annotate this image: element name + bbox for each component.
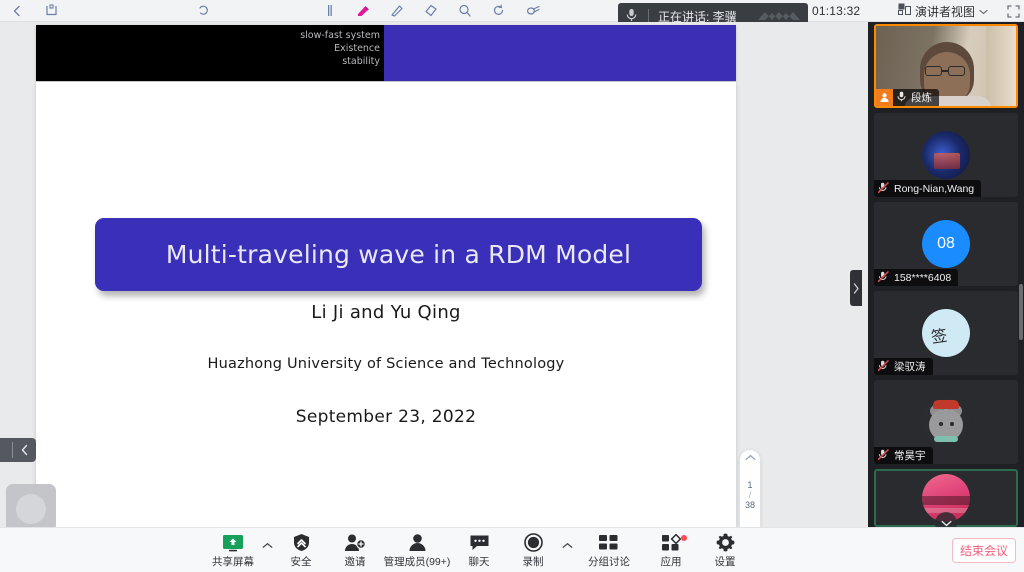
slide-affiliation: Huazhong University of Science and Techn… (36, 356, 736, 372)
participant-name: 常昊宇 (894, 448, 926, 463)
microphone-muted-icon (878, 180, 889, 198)
strip-scroll-down-button[interactable] (935, 512, 957, 527)
record-icon (524, 533, 543, 553)
participant-tile[interactable]: 常昊宇 (874, 380, 1018, 464)
outline-line-2: Existence (300, 42, 380, 55)
eraser-tool-icon[interactable] (414, 0, 448, 22)
record-options-caret[interactable] (560, 528, 574, 572)
participant-strip[interactable]: 段炼 Rong-Nian,Wang 08 158****6408 签 (868, 22, 1024, 527)
previous-slide-strip: slow-fast system Existence stability (36, 25, 736, 81)
annotation-toolbar (0, 0, 1024, 22)
strip-collapse-handle[interactable] (850, 270, 862, 306)
view-mode-label: 演讲者视图 (915, 3, 975, 20)
share-screen-label: 共享屏幕 (212, 554, 254, 569)
current-slide: Multi-traveling wave in a RDM Model Li J… (36, 82, 736, 527)
cat-eye-left (939, 422, 943, 426)
participant-name-bar: 段炼 (893, 89, 939, 106)
avatar (16, 494, 46, 524)
cat-hat (933, 400, 959, 409)
invite-button[interactable]: 邀请 (328, 528, 382, 572)
participant-name: 梁驭涛 (894, 359, 926, 374)
apps-icon (661, 533, 682, 553)
slide-viewport: slow-fast system Existence stability Mul… (14, 22, 868, 527)
end-meeting-label: 结束会议 (960, 542, 1008, 559)
participant-name: 段炼 (911, 90, 932, 105)
glasses-right (948, 66, 965, 76)
participant-name-bar: 常昊宇 (874, 447, 933, 464)
slide-title-box: Multi-traveling wave in a RDM Model (95, 218, 702, 291)
meeting-timer: 01:13:32 (812, 0, 860, 22)
slide-authors: Li Ji and Yu Qing (36, 302, 736, 323)
avatar (922, 131, 970, 179)
participant-tile[interactable]: 签 梁驭涛 (874, 291, 1018, 375)
chevron-down-icon (979, 2, 988, 20)
highlighter-tool-icon[interactable] (346, 0, 380, 22)
meeting-toolbar: 共享屏幕 安全 邀请 管理成员(99+) 聊天 (0, 527, 1024, 572)
shield-icon (292, 533, 311, 553)
select-tool-icon[interactable] (312, 0, 346, 22)
cat-eye-right (950, 422, 954, 426)
participant-tile[interactable]: 08 158****6408 (874, 202, 1018, 286)
shared-screen-area: slow-fast system Existence stability Mul… (0, 22, 868, 527)
breakout-rooms-button[interactable]: 分组讨论 (574, 528, 644, 572)
microphone-muted-icon (878, 447, 889, 465)
participant-name: 158****6408 (894, 272, 951, 284)
background-curtain (986, 26, 1016, 106)
divider (648, 9, 649, 23)
chevron-left-icon (20, 444, 29, 456)
end-meeting-button[interactable]: 结束会议 (952, 538, 1016, 563)
settings-button[interactable]: 设置 (698, 528, 752, 572)
avatar-initials: 08 (937, 235, 955, 253)
page-separator: / (749, 490, 752, 500)
share-screen-button[interactable]: 共享屏幕 (206, 528, 260, 572)
invite-label: 邀请 (345, 554, 366, 569)
page-total: 38 (745, 500, 755, 510)
outline-line-3: stability (300, 55, 380, 68)
glasses-bridge (942, 70, 948, 72)
undo-icon[interactable] (186, 0, 220, 22)
fullscreen-icon[interactable] (1003, 0, 1023, 22)
prev-slide-blue-band (384, 25, 736, 81)
annotation-toolbar-left (0, 0, 666, 21)
participant-tile[interactable]: Rong-Nian,Wang (874, 113, 1018, 197)
apps-button[interactable]: 应用 (644, 528, 698, 572)
manage-participants-button[interactable]: 管理成员(99+) (382, 528, 452, 572)
toolbar-buttons: 共享屏幕 安全 邀请 管理成员(99+) 聊天 (206, 528, 752, 572)
page-navigator[interactable]: 1 / 38 (739, 449, 761, 527)
avatar: 签 (922, 309, 970, 357)
breakout-rooms-label: 分组讨论 (588, 554, 630, 569)
participant-tile[interactable]: 段炼 (874, 24, 1018, 108)
spotlight-tool-icon[interactable] (448, 0, 482, 22)
chat-label: 聊天 (469, 554, 490, 569)
avatar-stripe (922, 496, 970, 505)
gear-icon (716, 533, 735, 553)
strip-scrollbar[interactable] (1019, 284, 1023, 340)
microphone-icon (897, 89, 906, 107)
record-label: 录制 (523, 554, 544, 569)
clear-tool-icon[interactable] (516, 0, 550, 22)
cat-scarf (934, 436, 958, 442)
prev-slide-outline: slow-fast system Existence stability (300, 29, 380, 68)
avatar-signature: 签 (929, 322, 946, 348)
self-view-thumbnail[interactable] (6, 484, 56, 532)
apps-label: 应用 (661, 554, 682, 569)
microphone-muted-icon (878, 358, 889, 376)
page-up-icon[interactable] (745, 454, 756, 461)
back-icon[interactable] (0, 0, 34, 22)
participant-name-bar: Rong-Nian,Wang (874, 180, 981, 197)
chevron-right-icon (853, 283, 860, 294)
notification-badge (681, 535, 687, 541)
host-icon (876, 89, 893, 106)
breakout-rooms-icon (598, 533, 620, 553)
view-mode-selector[interactable]: 演讲者视图 (898, 0, 988, 22)
slide-date: September 23, 2022 (36, 407, 736, 427)
page-indicator: 1 / 38 (745, 480, 755, 510)
slide-title: Multi-traveling wave in a RDM Model (166, 240, 631, 269)
left-panel-collapse-button[interactable] (0, 438, 36, 462)
divider (12, 442, 13, 458)
chat-button[interactable]: 聊天 (452, 528, 506, 572)
pen-tool-icon[interactable] (380, 0, 414, 22)
security-label: 安全 (291, 554, 312, 569)
manage-participants-label: 管理成员(99+) (384, 554, 451, 569)
settings-label: 设置 (715, 554, 736, 569)
share-screen-options-caret[interactable] (260, 528, 274, 572)
outline-line-1: slow-fast system (300, 29, 380, 42)
screen-share-icon (222, 533, 244, 553)
participants-icon (407, 533, 428, 553)
glasses-left (925, 66, 942, 76)
security-button[interactable]: 安全 (274, 528, 328, 572)
save-icon[interactable] (34, 0, 68, 22)
avatar (922, 398, 970, 446)
page-current: 1 (747, 480, 752, 490)
avatar: 08 (922, 220, 970, 268)
chat-bubble-icon (469, 533, 490, 553)
record-button[interactable]: 录制 (506, 528, 560, 572)
participant-name: Rong-Nian,Wang (894, 183, 974, 195)
participant-name-bar: 158****6408 (874, 269, 958, 286)
participant-name-bar: 梁驭涛 (874, 358, 933, 375)
microphone-muted-icon (878, 269, 889, 287)
layout-speaker-icon (898, 2, 911, 20)
undo-arrow-tool-icon[interactable] (482, 0, 516, 22)
invite-user-icon (344, 533, 366, 553)
